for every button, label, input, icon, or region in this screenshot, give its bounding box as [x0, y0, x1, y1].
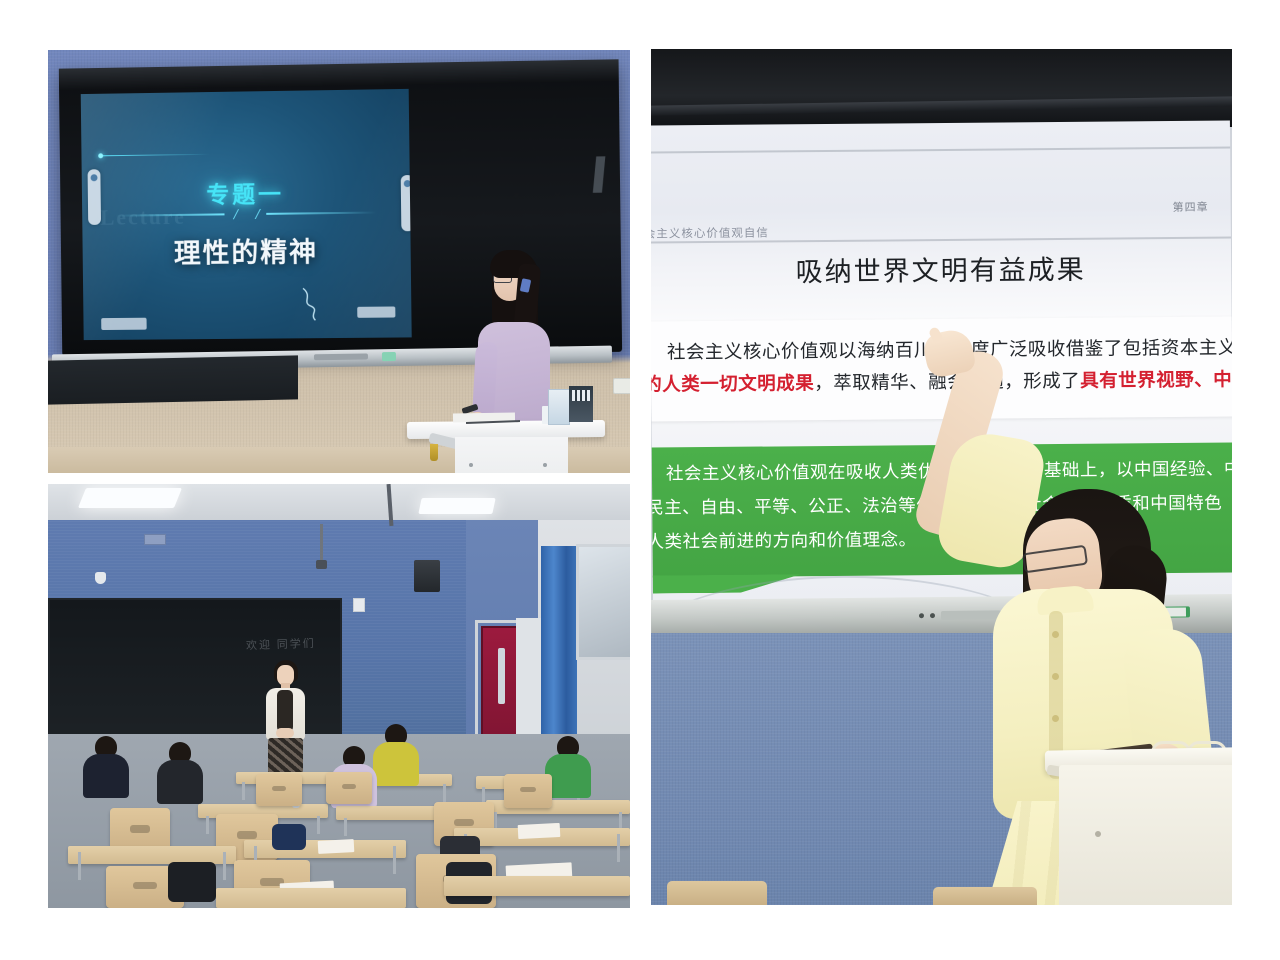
photo-top-left-lecture-hall: Lecture 专题一 理性的精神	[48, 50, 630, 473]
notebook	[518, 823, 561, 839]
lectern-body	[455, 437, 568, 473]
chalk-marks	[425, 97, 582, 180]
security-camera-icon	[95, 572, 106, 584]
board-glare	[593, 156, 606, 192]
hanging-projector-mount	[320, 524, 323, 562]
student-body	[157, 760, 203, 804]
chair	[326, 772, 372, 804]
wall-strip	[516, 618, 542, 750]
foreground-chair-left	[667, 881, 767, 905]
board-underside-shadow	[48, 355, 298, 404]
slide-accent-line	[101, 154, 210, 157]
ceiling-light-2	[418, 498, 495, 514]
slide-topic-label: 专题一	[82, 173, 410, 211]
teacher-inner-top	[277, 690, 293, 732]
screen-label-bottom-right	[357, 306, 395, 317]
handwritten-scribble	[299, 286, 339, 322]
slide-chapter-label: 第四章	[1173, 199, 1209, 215]
ceiling-light-1	[78, 488, 182, 508]
screen-label-bottom-left	[101, 318, 147, 330]
screen-top-frame	[651, 49, 1232, 127]
chair	[256, 774, 302, 806]
notebook	[318, 839, 355, 854]
slide-title: 理性的精神	[82, 229, 410, 271]
photo-bottom-left-classroom: 欢迎 同学们 2022年8月中旬，重庆多区县接连发生山林大火 同样是遭遇大火，为…	[48, 484, 630, 908]
teacher-hands	[276, 728, 294, 738]
backpack	[168, 862, 216, 902]
presentation-screen: Lecture 专题一 理性的精神	[81, 89, 412, 340]
wall-outlet-1	[613, 378, 630, 394]
backpack	[272, 824, 306, 850]
tissue-box	[548, 389, 570, 425]
classroom-teacher	[264, 660, 306, 776]
foreground-chair-right	[933, 887, 1037, 905]
desk	[216, 888, 406, 908]
slide-section-label: 会主义核心价值观自信	[651, 225, 769, 242]
podium-body	[1059, 765, 1232, 905]
student-body	[373, 742, 419, 786]
paragraph-highlight-a: 的人类一切文明成果	[651, 373, 814, 395]
door-window	[498, 648, 505, 704]
green-box-line-3: 人类社会前进的方向和价值理念。	[651, 527, 917, 556]
window-curtain	[541, 546, 577, 736]
wall-sign	[144, 534, 166, 545]
window	[576, 544, 630, 660]
chair	[504, 774, 552, 808]
wall-speaker	[414, 560, 440, 592]
ledge-control-panel	[314, 353, 368, 360]
screen-toolbar-left[interactable]	[88, 169, 101, 225]
blackboard-chalk-text: 欢迎 同学们	[246, 635, 316, 653]
lectern-tassel	[430, 444, 438, 461]
slide-divider-ornament	[116, 208, 377, 221]
desk	[444, 876, 630, 896]
light-switch	[353, 598, 365, 612]
photo-collage: Lecture 专题一 理性的精神	[0, 0, 1280, 960]
teacher-skirt	[268, 738, 303, 776]
photo-right-lecturer: 第四章 会主义核心价值观自信 吸纳世界文明有益成果 社会主义核心价值观以海纳百川…	[651, 49, 1232, 905]
slide-header-rule	[651, 146, 1232, 153]
slide-title: 吸纳世界文明有益成果	[651, 246, 1231, 290]
ledge-marker	[382, 352, 396, 361]
speaker-box	[569, 386, 593, 422]
student-body	[83, 754, 129, 798]
screen-toolbar-right[interactable]	[401, 175, 412, 231]
